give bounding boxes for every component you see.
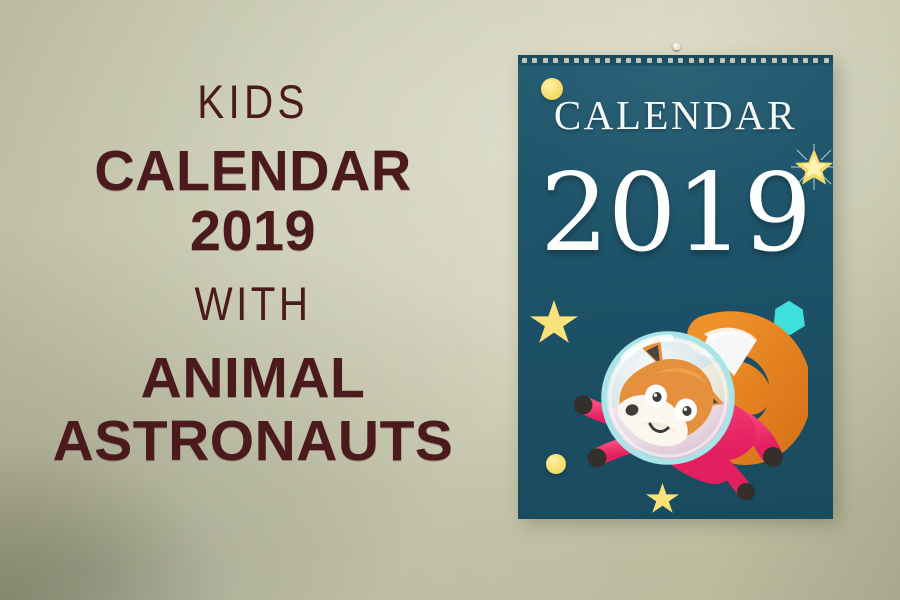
calendar-binding-holes xyxy=(518,55,833,66)
headline-line-kids: KIDS xyxy=(53,78,454,126)
headline-line-animal: ANIMAL xyxy=(20,348,486,410)
calendar-year: 2019 xyxy=(518,160,833,268)
headline-block: KIDS CALENDAR 2019 WITH ANIMAL ASTRONAUT… xyxy=(20,78,486,473)
headline-line-astronauts: ASTRONAUTS xyxy=(20,411,486,473)
headline-line-calendar: CALENDAR 2019 xyxy=(25,142,482,262)
calendar-poster[interactable]: CALENDAR 2019 xyxy=(518,55,833,519)
calendar-title: CALENDAR xyxy=(518,91,833,139)
nail-head-icon xyxy=(670,41,683,56)
headline-line-with: WITH xyxy=(53,280,454,328)
fox-astronaut-illustration xyxy=(558,300,808,500)
poster-canvas: KIDS CALENDAR 2019 WITH ANIMAL ASTRONAUT… xyxy=(0,0,900,600)
